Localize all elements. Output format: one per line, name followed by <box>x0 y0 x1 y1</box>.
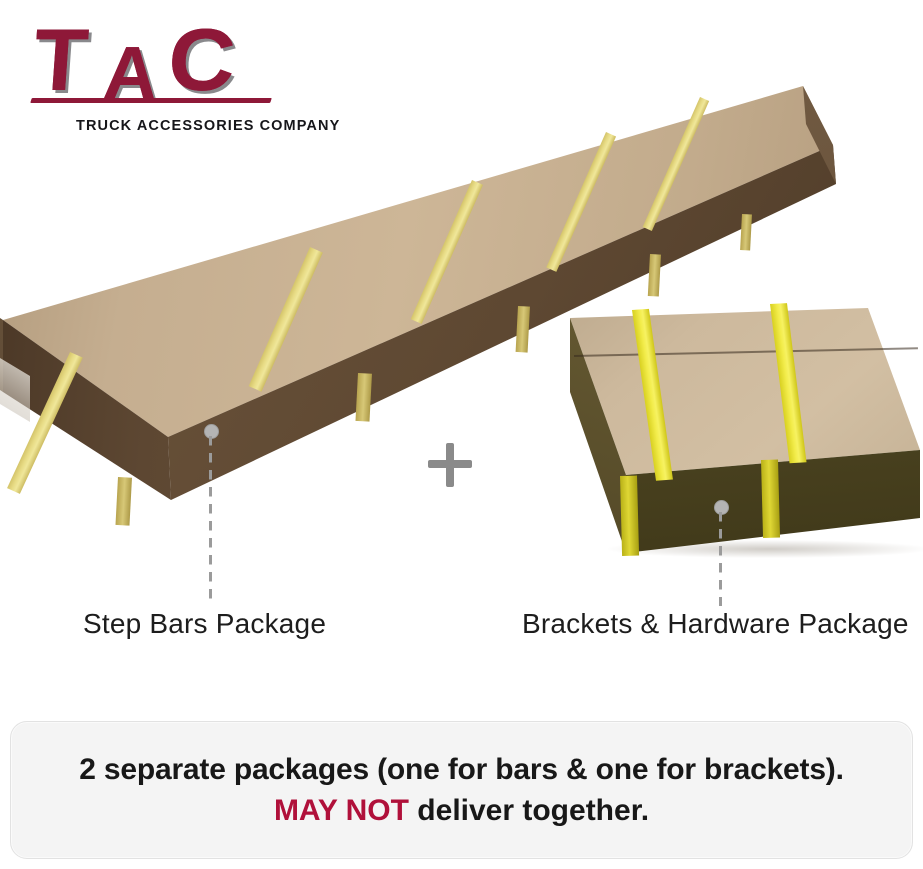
strap-4-front <box>648 254 661 297</box>
strap-1-front <box>115 477 131 526</box>
product-infographic: T A C TRUCK ACCESSORIES COMPANY <box>0 0 923 869</box>
strap-5-front <box>740 214 752 250</box>
plus-icon <box>428 443 472 487</box>
brackets-strap-2-front <box>761 460 780 538</box>
banner-line-2: MAY NOT deliver together. <box>274 792 649 830</box>
brackets-package-caption: Brackets & Hardware Package <box>522 608 909 640</box>
step-bars-package-caption: Step Bars Package <box>83 608 326 640</box>
shipping-notice-banner: 2 separate packages (one for bars & one … <box>10 721 913 859</box>
banner-line-2-rest: deliver together. <box>409 794 649 827</box>
leader-dashed-line <box>719 512 722 606</box>
brackets-carton <box>508 300 923 565</box>
strap-2-front <box>355 373 371 422</box>
banner-emphasis-text: MAY NOT <box>274 794 409 827</box>
brackets-strap-1-front <box>620 476 639 556</box>
banner-line-1: 2 separate packages (one for bars & one … <box>79 751 843 789</box>
leader-dashed-line <box>209 436 212 606</box>
